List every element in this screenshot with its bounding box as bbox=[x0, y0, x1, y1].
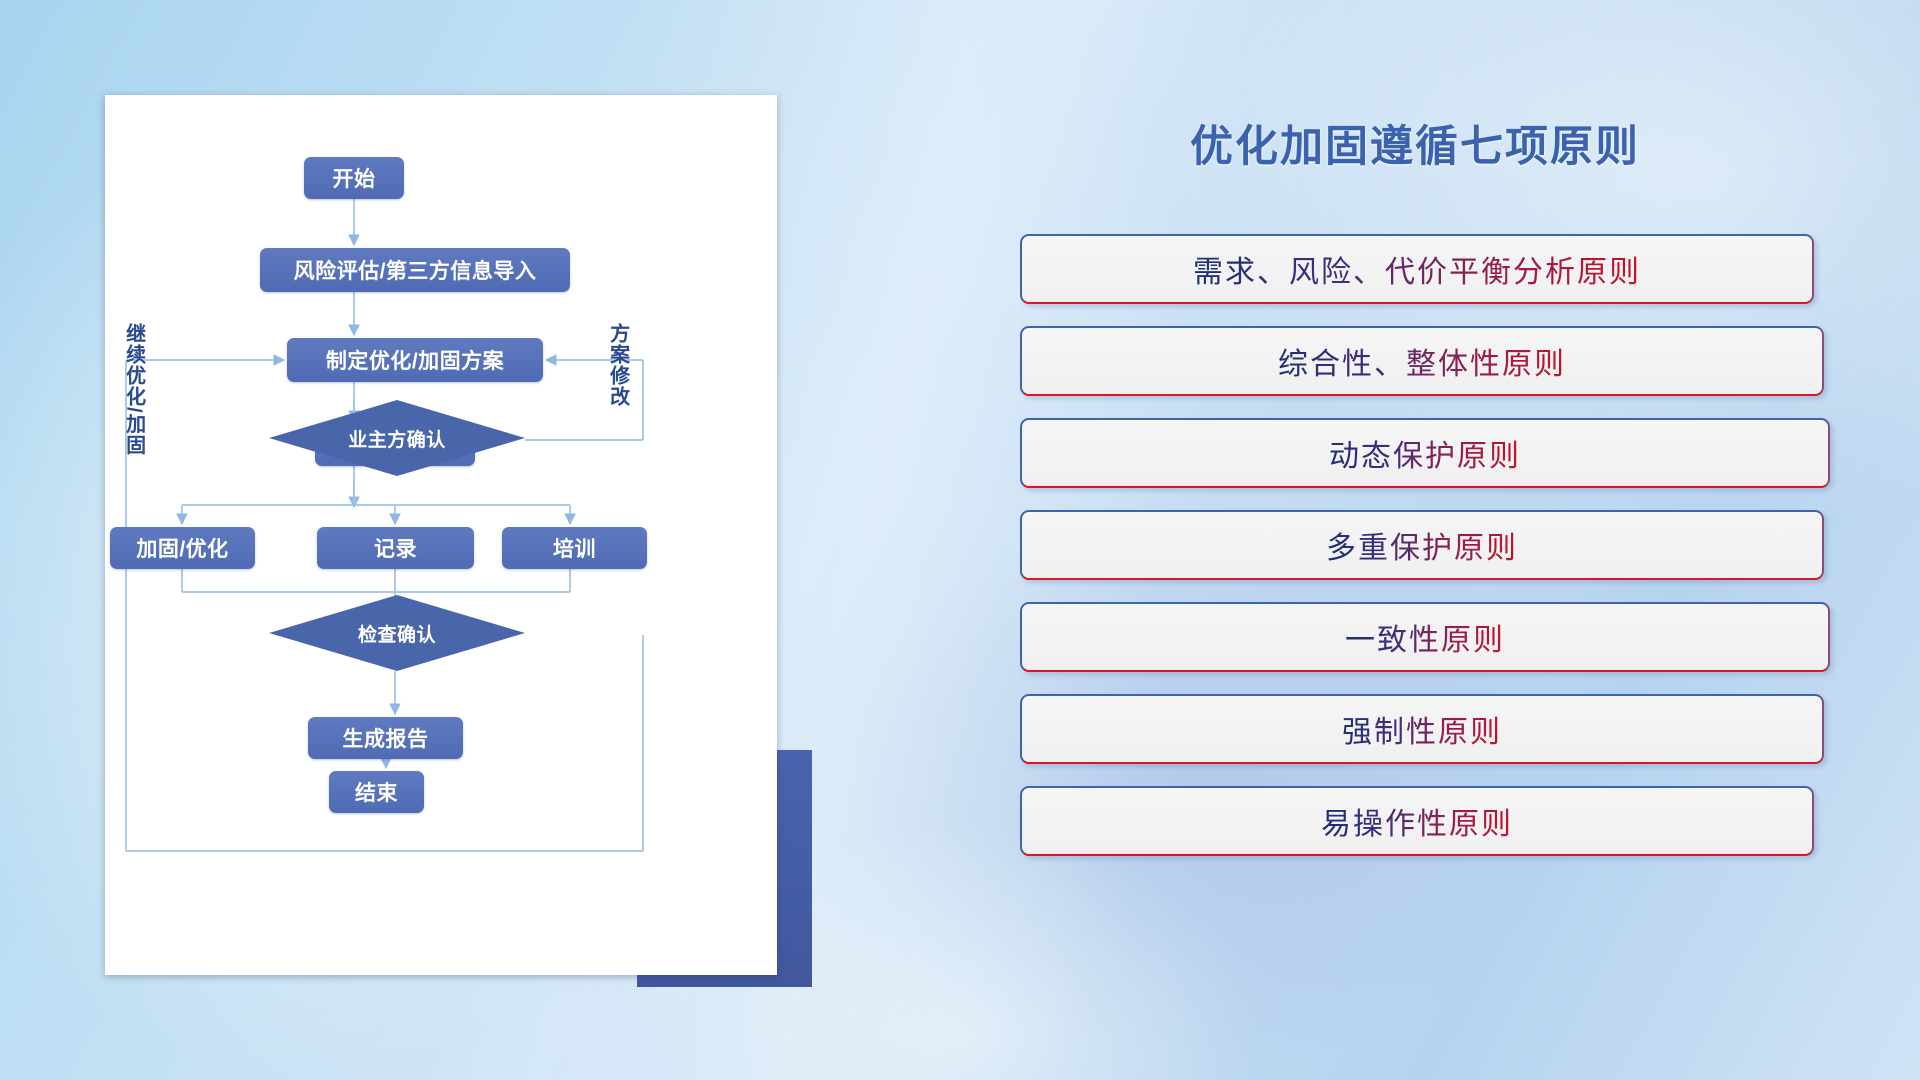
flow-node-training[interactable]: 培训 bbox=[502, 527, 647, 569]
principle-label: 易操作性原则 bbox=[1321, 799, 1513, 843]
principles-pane: 优化加固遵循七项原则 需求、风险、代价平衡分析原则 综合性、整体性原则 动态保护… bbox=[1020, 0, 1850, 1080]
principles-title: 优化加固遵循七项原则 bbox=[1020, 112, 1810, 174]
principle-label: 强制性原则 bbox=[1342, 707, 1502, 751]
principles-list: 需求、风险、代价平衡分析原则 综合性、整体性原则 动态保护原则 多重保护原则 一… bbox=[1020, 234, 1810, 878]
principle-label: 动态保护原则 bbox=[1329, 431, 1521, 475]
principle-label: 一致性原则 bbox=[1345, 615, 1505, 659]
principle-label: 多重保护原则 bbox=[1326, 523, 1518, 567]
principle-card[interactable]: 多重保护原则 bbox=[1020, 510, 1824, 580]
principle-card[interactable]: 动态保护原则 bbox=[1020, 418, 1830, 488]
flow-edge-label-left-loop: 继续优化/加固 bbox=[122, 323, 144, 456]
principle-label: 综合性、整体性原则 bbox=[1278, 339, 1566, 383]
flow-edge-label-right-loop: 方案修改 bbox=[606, 323, 628, 407]
flow-node-start[interactable]: 开始 bbox=[304, 157, 404, 199]
flow-node-reinforce-optimize[interactable]: 加固/优化 bbox=[110, 527, 255, 569]
flowchart-panel: 开始 风险评估/第三方信息导入 制定优化/加固方案 提交申请 业主方确认 加固/… bbox=[105, 95, 777, 975]
flow-node-risk-assessment[interactable]: 风险评估/第三方信息导入 bbox=[260, 248, 570, 292]
principle-card[interactable]: 易操作性原则 bbox=[1020, 786, 1814, 856]
principle-label: 需求、风险、代价平衡分析原则 bbox=[1193, 247, 1641, 291]
flow-node-make-plan[interactable]: 制定优化/加固方案 bbox=[287, 338, 543, 382]
principle-card[interactable]: 综合性、整体性原则 bbox=[1020, 326, 1824, 396]
principle-card[interactable]: 需求、风险、代价平衡分析原则 bbox=[1020, 234, 1814, 304]
principle-card[interactable]: 一致性原则 bbox=[1020, 602, 1830, 672]
flow-node-record[interactable]: 记录 bbox=[317, 527, 474, 569]
flow-node-end[interactable]: 结束 bbox=[329, 771, 424, 813]
principle-card[interactable]: 强制性原则 bbox=[1020, 694, 1824, 764]
flow-node-generate-report[interactable]: 生成报告 bbox=[308, 717, 463, 759]
